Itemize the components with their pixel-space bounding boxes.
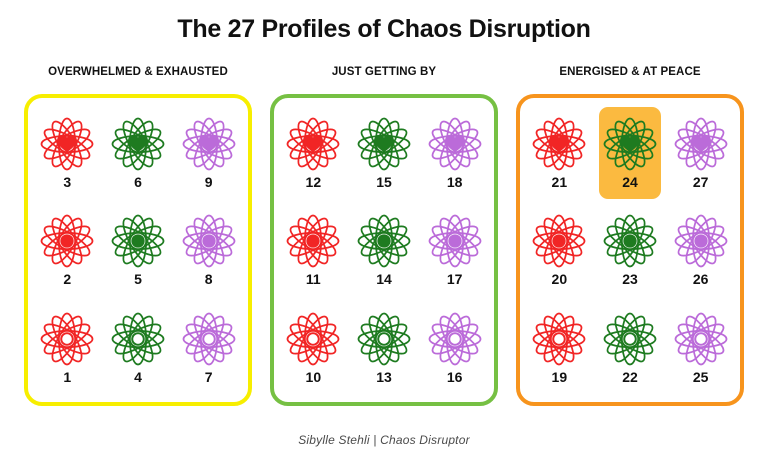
group-header: OVERWHELMED & EXHAUSTED xyxy=(48,62,228,82)
profile-cell[interactable]: 27 xyxy=(670,107,732,199)
profile-number: 19 xyxy=(552,369,568,385)
flower-center-ring xyxy=(554,333,566,345)
flower-center-ring xyxy=(695,333,707,345)
profile-number: 10 xyxy=(306,369,322,385)
profile-cell[interactable]: 26 xyxy=(670,204,732,296)
profile-number: 8 xyxy=(205,271,213,287)
profile-number: 7 xyxy=(205,369,213,385)
flower-center-dot xyxy=(307,235,320,248)
profile-cell[interactable]: 21 xyxy=(528,107,590,199)
group-panel: 121518111417101316 xyxy=(270,94,498,406)
profile-group: OVERWHELMED & EXHAUSTED369258147 xyxy=(24,62,252,412)
profile-cell[interactable]: 1 xyxy=(36,301,98,393)
flower-rosette xyxy=(355,115,413,173)
profile-number: 13 xyxy=(376,369,392,385)
profile-cell[interactable]: 12 xyxy=(282,107,344,199)
flower-rosette xyxy=(284,115,342,173)
flower-center-ring xyxy=(203,333,215,345)
profile-number: 1 xyxy=(63,369,71,385)
profile-number: 9 xyxy=(205,174,213,190)
flower-rosette xyxy=(601,115,659,173)
profile-cell[interactable]: 11 xyxy=(282,204,344,296)
profile-cell[interactable]: 22 xyxy=(599,301,661,393)
profile-number: 27 xyxy=(693,174,709,190)
flower-rosette xyxy=(355,310,413,368)
profile-number: 23 xyxy=(622,271,638,287)
flower-rosette xyxy=(38,310,96,368)
profile-number: 15 xyxy=(376,174,392,190)
flower-center-ring xyxy=(378,333,390,345)
flower-center-dot xyxy=(694,235,707,248)
group-panel: 212427202326192225 xyxy=(516,94,744,406)
flower-rosette xyxy=(426,115,484,173)
group-header: JUST GETTING BY xyxy=(332,62,436,82)
flower-rosette xyxy=(355,212,413,270)
group-panel: 369258147 xyxy=(24,94,252,406)
flower-rosette xyxy=(38,115,96,173)
profile-cell[interactable]: 6 xyxy=(107,107,169,199)
profile-number: 24 xyxy=(622,174,638,190)
profile-number: 18 xyxy=(447,174,463,190)
flower-rosette xyxy=(180,115,238,173)
flower-rosette xyxy=(426,212,484,270)
profile-cell[interactable]: 9 xyxy=(178,107,240,199)
footer-credit: Sibylle Stehli | Chaos Disruptor xyxy=(0,433,768,447)
profile-number: 14 xyxy=(376,271,392,287)
flower-rosette xyxy=(284,310,342,368)
profile-number: 6 xyxy=(134,174,142,190)
flower-center-dot xyxy=(131,235,144,248)
profile-number: 12 xyxy=(306,174,322,190)
profile-number: 26 xyxy=(693,271,709,287)
profile-number: 25 xyxy=(693,369,709,385)
flower-rosette xyxy=(530,115,588,173)
profile-number: 11 xyxy=(306,271,321,287)
profile-cell[interactable]: 8 xyxy=(178,204,240,296)
flower-rosette xyxy=(109,115,167,173)
profile-number: 17 xyxy=(447,271,463,287)
flower-rosette xyxy=(530,212,588,270)
flower-rosette xyxy=(426,310,484,368)
flower-center-ring xyxy=(624,333,636,345)
profile-number: 20 xyxy=(552,271,568,287)
group-header: ENERGISED & AT PEACE xyxy=(559,62,700,82)
profile-cell[interactable]: 23 xyxy=(599,204,661,296)
profile-cell[interactable]: 3 xyxy=(36,107,98,199)
flower-center-dot xyxy=(202,235,215,248)
flower-rosette xyxy=(109,310,167,368)
profile-group: ENERGISED & AT PEACE212427202326192225 xyxy=(516,62,744,412)
flower-center-dot xyxy=(61,235,74,248)
profile-cell[interactable]: 10 xyxy=(282,301,344,393)
flower-rosette xyxy=(109,212,167,270)
page-title: The 27 Profiles of Chaos Disruption xyxy=(0,16,768,44)
profile-cell[interactable]: 18 xyxy=(424,107,486,199)
profile-group: JUST GETTING BY121518111417101316 xyxy=(270,62,498,412)
flower-center-dot xyxy=(623,235,636,248)
flower-center-ring xyxy=(62,333,74,345)
profile-cell[interactable]: 14 xyxy=(353,204,415,296)
profile-number: 2 xyxy=(63,271,71,287)
flower-center-ring xyxy=(132,333,144,345)
profile-cell[interactable]: 15 xyxy=(353,107,415,199)
flower-rosette xyxy=(530,310,588,368)
profile-cell[interactable]: 20 xyxy=(528,204,590,296)
profile-groups: OVERWHELMED & EXHAUSTED369258147JUST GET… xyxy=(0,62,768,412)
flower-center-ring xyxy=(308,333,320,345)
flower-center-dot xyxy=(377,235,390,248)
flower-rosette xyxy=(180,212,238,270)
profile-number: 22 xyxy=(622,369,638,385)
profile-cell[interactable]: 16 xyxy=(424,301,486,393)
profile-cell[interactable]: 7 xyxy=(178,301,240,393)
profile-cell[interactable]: 2 xyxy=(36,204,98,296)
flower-rosette xyxy=(601,310,659,368)
flower-center-dot xyxy=(553,235,566,248)
flower-rosette xyxy=(672,310,730,368)
profile-number: 5 xyxy=(134,271,142,287)
profile-number: 16 xyxy=(447,369,463,385)
profile-cell[interactable]: 5 xyxy=(107,204,169,296)
profile-cell[interactable]: 25 xyxy=(670,301,732,393)
flower-rosette xyxy=(38,212,96,270)
profile-cell[interactable]: 19 xyxy=(528,301,590,393)
flower-rosette xyxy=(284,212,342,270)
profile-number: 4 xyxy=(134,369,142,385)
profile-number: 21 xyxy=(552,174,568,190)
flower-rosette xyxy=(672,212,730,270)
profile-cell[interactable]: 13 xyxy=(353,301,415,393)
profile-cell[interactable]: 4 xyxy=(107,301,169,393)
flower-center-dot xyxy=(448,235,461,248)
flower-center-ring xyxy=(449,333,461,345)
flower-rosette xyxy=(601,212,659,270)
profile-cell[interactable]: 17 xyxy=(424,204,486,296)
flower-rosette xyxy=(672,115,730,173)
profile-cell-highlighted[interactable]: 24 xyxy=(599,107,661,199)
profile-number: 3 xyxy=(63,174,71,190)
flower-rosette xyxy=(180,310,238,368)
